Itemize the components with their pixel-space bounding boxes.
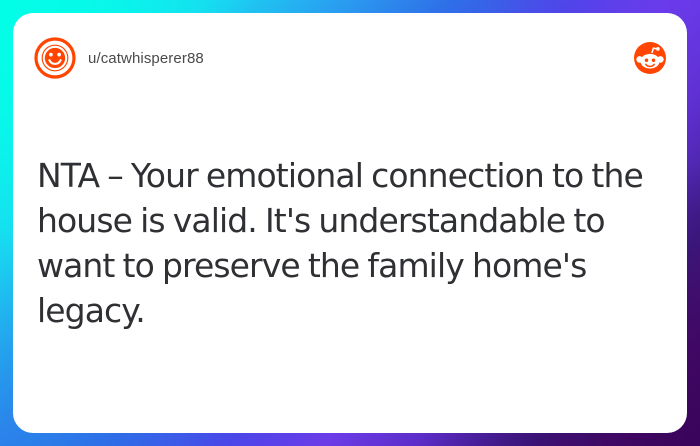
reddit-comment-card: u/catwhisperer88 [13,13,687,433]
screenshot-root: u/catwhisperer88 [0,0,700,446]
username-label: u/catwhisperer88 [88,50,204,67]
comment-body-text: NTA – Your emotional connection to the h… [37,153,663,333]
reddit-snoo-logo-icon [634,42,666,74]
card-header: u/catwhisperer88 [34,34,666,82]
smiley-face-avatar-icon [34,37,76,79]
